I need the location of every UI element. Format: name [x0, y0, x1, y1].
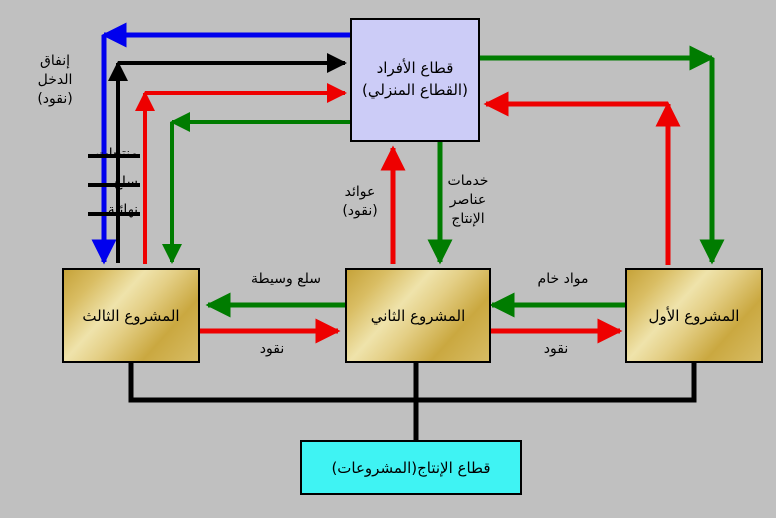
node-project-second-label: المشروع الثاني	[371, 307, 466, 325]
label-goods-line-1: منتجات	[20, 145, 138, 164]
node-project-third[interactable]: المشروع الثالث	[62, 268, 200, 363]
production-sector-connector	[131, 363, 694, 440]
arrow-right-red	[486, 104, 668, 265]
arrow-income-spending-blue	[104, 35, 350, 262]
label-money-middle: نقود	[236, 340, 308, 359]
label-raw-materials: مواد خام	[508, 270, 618, 289]
label-intermediate-goods: سلع وسيطة	[228, 270, 344, 289]
arrow-left-red	[145, 93, 345, 264]
node-households-sector[interactable]: قطاع الأفراد (القطاع المنزلي)	[350, 18, 480, 142]
label-money-right: نقود	[520, 340, 592, 359]
node-production-sector[interactable]: قطاع الإنتاج(المشروعات)	[300, 440, 522, 495]
node-project-first[interactable]: المشروع الأول	[625, 268, 763, 363]
arrow-left-green	[172, 122, 350, 262]
label-goods-line-3: نهائية	[20, 201, 138, 220]
label-goods-line-2: سلع	[20, 173, 138, 192]
node-project-third-label: المشروع الثالث	[82, 307, 179, 325]
node-project-first-label: المشروع الأول	[649, 307, 740, 325]
arrow-right-green	[480, 58, 712, 262]
node-project-second[interactable]: المشروع الثاني	[345, 268, 491, 363]
label-returns-money: عوائد (نقود)	[325, 183, 395, 221]
node-households-label: قطاع الأفراد (القطاع المنزلي)	[352, 58, 478, 102]
diagram-canvas: قطاع الأفراد (القطاع المنزلي) المشروع ال…	[0, 0, 776, 518]
node-production-sector-label: قطاع الإنتاج(المشروعات)	[331, 459, 490, 477]
label-factor-services: خدمات عناصر الإنتاج	[430, 172, 506, 229]
label-income-spending: إنفاق الدخل (نقود)	[18, 52, 92, 109]
